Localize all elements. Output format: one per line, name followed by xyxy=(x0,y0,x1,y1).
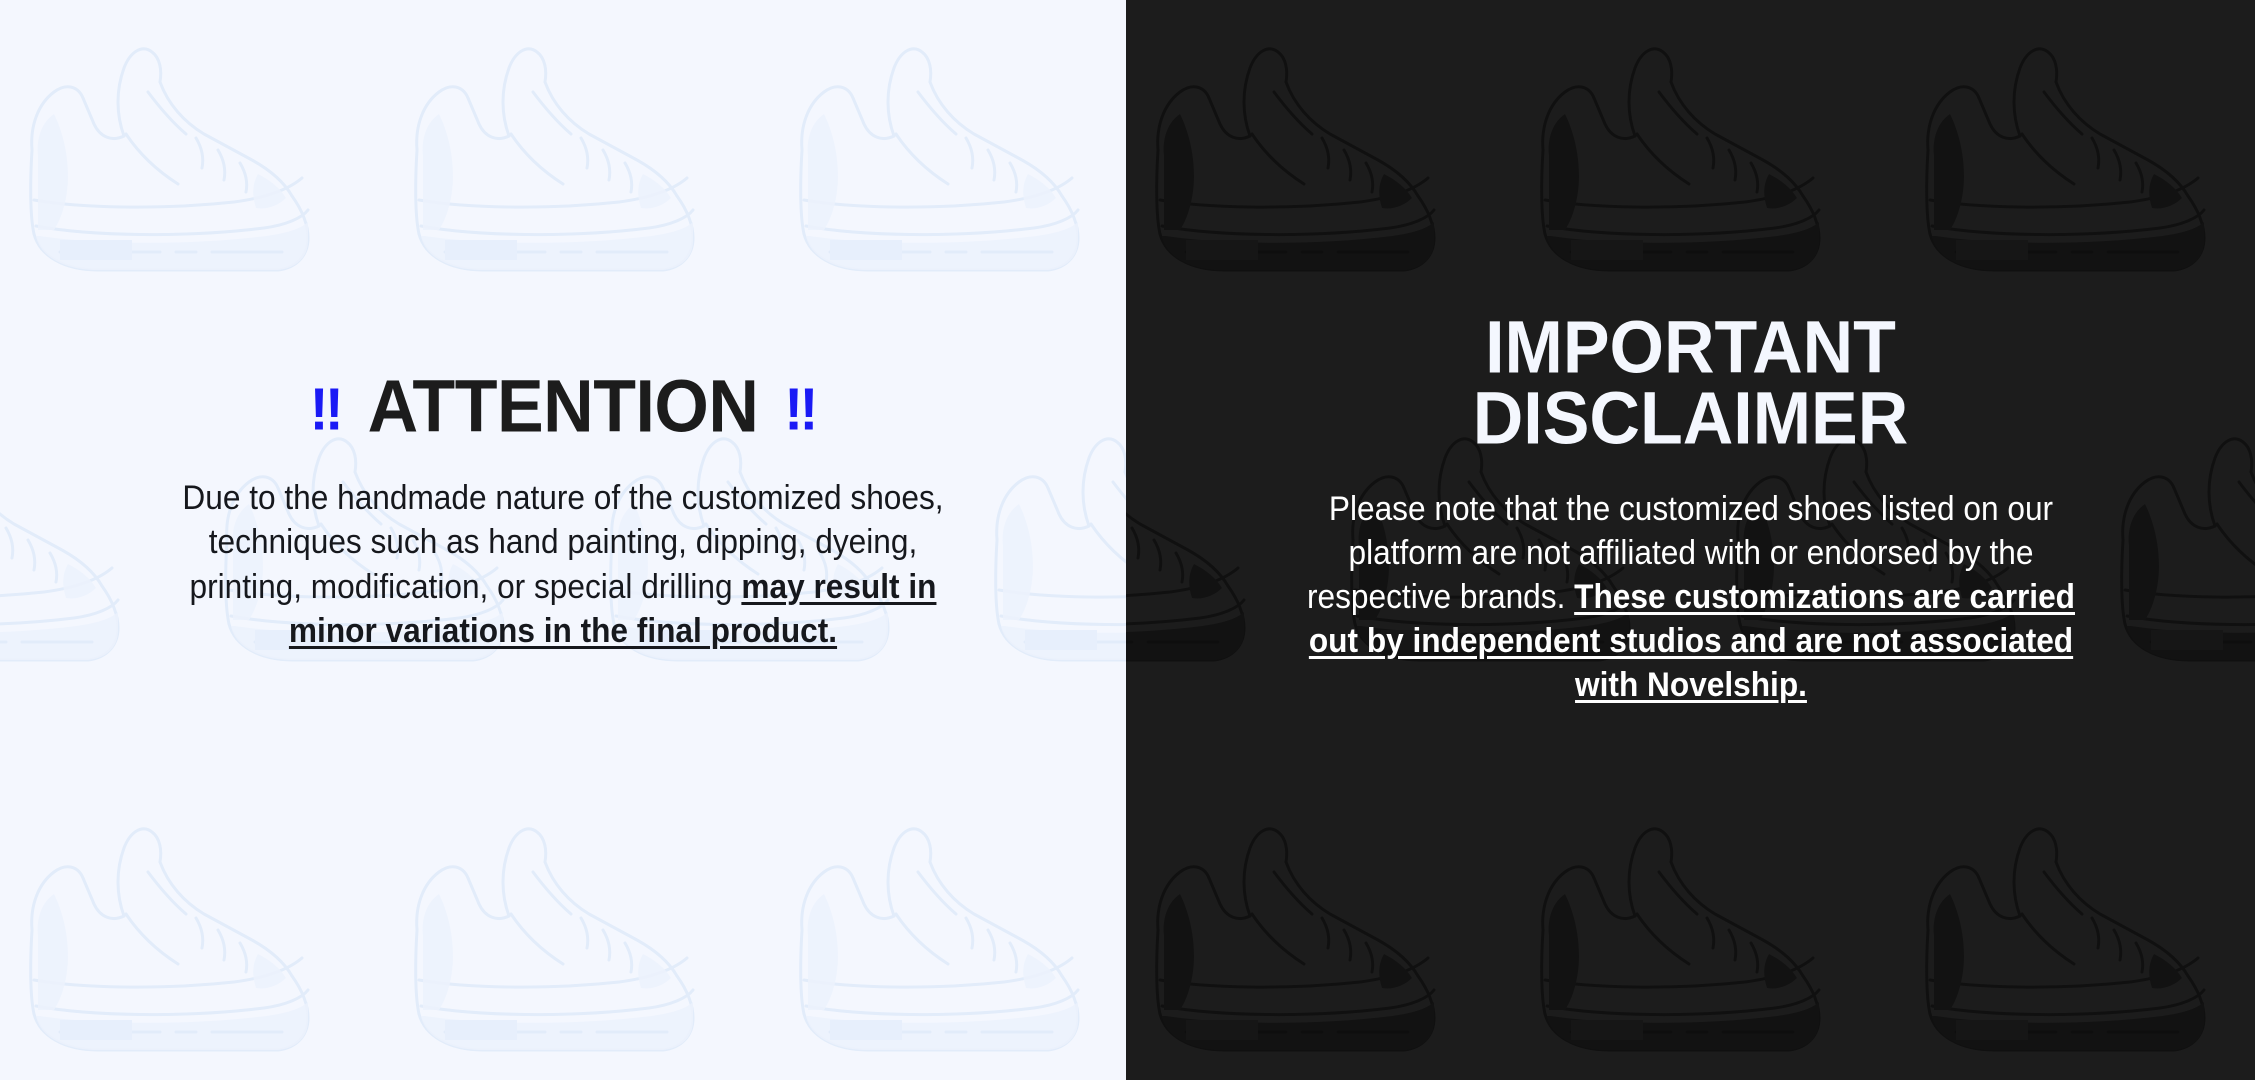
disclaimer-body: Please note that the customized shoes li… xyxy=(1305,487,2077,708)
attention-heading-text: ATTENTION xyxy=(368,365,759,448)
disclaimer-banner: ‼ATTENTION‼ Due to the handmade nature o… xyxy=(0,0,2255,1080)
disclaimer-heading: IMPORTANTDISCLAIMER xyxy=(1371,312,2011,454)
attention-heading: ‼ATTENTION‼ xyxy=(0,371,1126,442)
attention-body: Due to the handmade nature of the custom… xyxy=(177,476,949,653)
disclaimer-content: IMPORTANTDISCLAIMER Please note that the… xyxy=(1126,320,2255,707)
double-exclamation-left-icon: ‼ xyxy=(310,381,342,438)
disclaimer-panel: IMPORTANTDISCLAIMER Please note that the… xyxy=(1126,0,2255,1080)
attention-content: ‼ATTENTION‼ Due to the handmade nature o… xyxy=(0,375,1126,653)
double-exclamation-right-icon: ‼ xyxy=(784,381,816,438)
attention-panel: ‼ATTENTION‼ Due to the handmade nature o… xyxy=(0,0,1126,1080)
disclaimer-heading-line-2: DISCLAIMER xyxy=(1473,377,1909,460)
